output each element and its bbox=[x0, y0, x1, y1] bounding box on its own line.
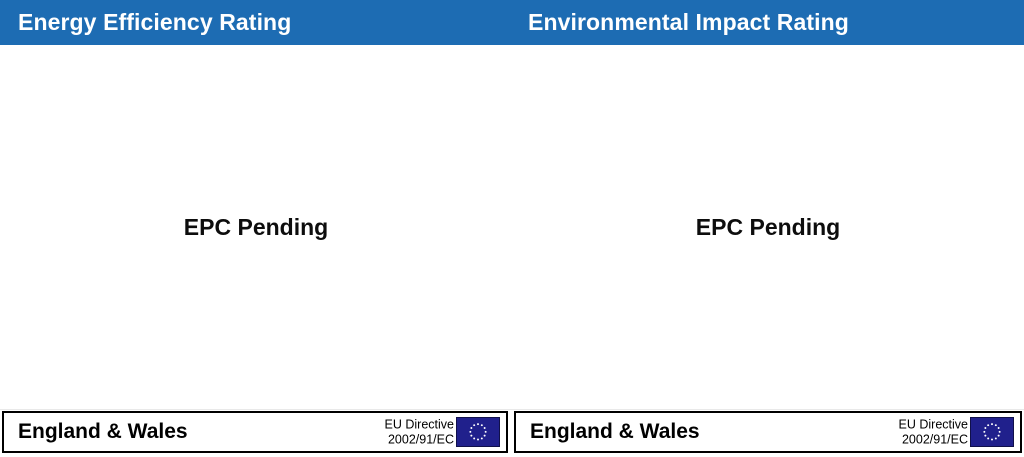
footer-right-directive: EU Directive 2002/91/EC bbox=[899, 418, 968, 447]
footer-right-directive-line1: EU Directive bbox=[899, 418, 968, 433]
footer-right-directive-line2: 2002/91/EC bbox=[899, 432, 968, 447]
environmental-impact-pending-status: EPC Pending bbox=[512, 213, 1024, 241]
energy-efficiency-pending-status: EPC Pending bbox=[0, 213, 512, 241]
footer-right: England & Wales EU Directive 2002/91/EC bbox=[514, 411, 1022, 453]
eu-flag-icon bbox=[970, 417, 1014, 447]
footer-left: England & Wales EU Directive 2002/91/EC bbox=[2, 411, 508, 453]
environmental-impact-panel: EPC Pending bbox=[512, 45, 1024, 411]
footer-right-region-label: England & Wales bbox=[530, 420, 700, 444]
energy-efficiency-panel: EPC Pending bbox=[0, 45, 512, 411]
header-bar: Energy Efficiency Rating Environmental I… bbox=[0, 0, 1024, 45]
footer-left-directive-line2: 2002/91/EC bbox=[385, 432, 454, 447]
eu-flag-icon bbox=[456, 417, 500, 447]
footer-left-directive: EU Directive 2002/91/EC bbox=[385, 418, 454, 447]
environmental-impact-rating-title: Environmental Impact Rating bbox=[528, 9, 849, 36]
footer-left-directive-line1: EU Directive bbox=[385, 418, 454, 433]
energy-efficiency-rating-title: Energy Efficiency Rating bbox=[18, 9, 291, 36]
epc-certificate-graphic: Energy Efficiency Rating Environmental I… bbox=[0, 0, 1024, 457]
panel-footer-divider bbox=[0, 409, 1024, 410]
footer-left-region-label: England & Wales bbox=[18, 420, 188, 444]
